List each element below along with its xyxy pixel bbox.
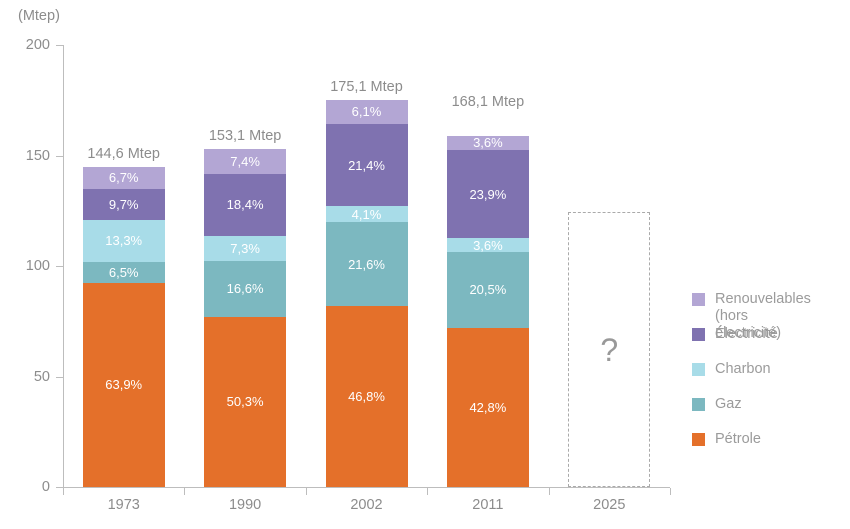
y-axis-tick-label: 150 (2, 148, 50, 164)
bar-segment-2002-renouvelables[interactable]: 6,1% (326, 100, 408, 124)
x-axis-tick (549, 488, 550, 495)
bar-1973[interactable]: 63,9%6,5%13,3%9,7%6,7% (83, 167, 165, 487)
bar-segment-1973-renouvelables[interactable]: 6,7% (83, 167, 165, 188)
x-axis-tick (63, 488, 64, 495)
bar-segment-value-label: 21,4% (348, 159, 385, 172)
bar-segment-value-label: 23,9% (469, 188, 506, 201)
bar-segment-1973-pétrole[interactable]: 63,9% (83, 283, 165, 487)
bar-segment-value-label: 6,5% (109, 266, 139, 279)
bar-segment-value-label: 50,3% (227, 395, 264, 408)
bar-segment-2011-renouvelables[interactable]: 3,6% (447, 136, 529, 149)
bar-segment-value-label: 3,6% (473, 136, 503, 149)
bar-segment-1990-gaz[interactable]: 16,6% (204, 261, 286, 317)
legend-color-swatch (692, 328, 705, 341)
bar-segment-1990-électricité[interactable]: 18,4% (204, 174, 286, 236)
bar-total-label-2002: 175,1 Mtep (330, 79, 403, 95)
bar-segment-value-label: 6,1% (352, 105, 382, 118)
bar-segment-2011-charbon[interactable]: 3,6% (447, 238, 529, 251)
bar-segment-1973-gaz[interactable]: 6,5% (83, 262, 165, 283)
bar-segment-2002-charbon[interactable]: 4,1% (326, 206, 408, 222)
x-axis-tick (184, 488, 185, 495)
bar-1990[interactable]: 50,3%16,6%7,3%18,4%7,4% (204, 149, 286, 487)
bar-segment-2011-gaz[interactable]: 20,5% (447, 252, 529, 328)
bar-total-label-2011: 168,1 Mtep (452, 94, 525, 110)
bar-segment-1990-renouvelables[interactable]: 7,4% (204, 149, 286, 174)
y-axis-tick-label: 200 (2, 37, 50, 53)
x-axis-category-label-2011: 2011 (427, 497, 548, 513)
bar-segment-1990-pétrole[interactable]: 50,3% (204, 317, 286, 487)
bar-segment-value-label: 3,6% (473, 239, 503, 252)
legend-color-swatch (692, 363, 705, 376)
legend-color-swatch (692, 293, 705, 306)
bar-segment-2002-gaz[interactable]: 21,6% (326, 222, 408, 306)
bar-segment-value-label: 21,6% (348, 258, 385, 271)
stacked-bar-chart: (Mtep) 050100150200 19731990200220112025… (0, 0, 850, 529)
legend-color-swatch (692, 433, 705, 446)
bar-2011[interactable]: 42,8%20,5%3,6%23,9%3,6% (447, 115, 529, 487)
y-axis-tick (56, 266, 64, 267)
bar-segment-1990-charbon[interactable]: 7,3% (204, 236, 286, 261)
bar-segment-2011-électricité[interactable]: 23,9% (447, 150, 529, 239)
legend-label: Pétrole (715, 431, 761, 448)
legend-label: Charbon (715, 361, 771, 378)
x-axis-tick (306, 488, 307, 495)
bar-segment-value-label: 46,8% (348, 390, 385, 403)
x-axis-tick (427, 488, 428, 495)
y-axis-tick-label: 50 (2, 369, 50, 385)
legend-label: Gaz (715, 396, 742, 413)
bar-2002[interactable]: 46,8%21,6%4,1%21,4%6,1% (326, 100, 408, 487)
bar-segment-value-label: 4,1% (352, 208, 382, 221)
y-axis-tick (56, 45, 64, 46)
y-axis-tick (56, 377, 64, 378)
legend-item-charbon[interactable]: Charbon (692, 361, 771, 378)
bar-segment-value-label: 6,7% (109, 171, 139, 184)
bar-segment-1973-électricité[interactable]: 9,7% (83, 189, 165, 220)
y-axis-tick-label: 100 (2, 258, 50, 274)
bar-segment-value-label: 42,8% (469, 401, 506, 414)
bar-total-label-1973: 144,6 Mtep (87, 146, 160, 162)
legend-label: Électricité (715, 326, 778, 343)
legend-item-électricité[interactable]: Électricité (692, 326, 778, 343)
legend-item-gaz[interactable]: Gaz (692, 396, 742, 413)
bar-segment-value-label: 16,6% (227, 282, 264, 295)
x-axis-category-label-1990: 1990 (184, 497, 305, 513)
y-axis-tick (56, 156, 64, 157)
bar-placeholder-2025[interactable]: ? (568, 212, 650, 487)
bar-segment-value-label: 18,4% (227, 198, 264, 211)
bar-segment-2011-pétrole[interactable]: 42,8% (447, 328, 529, 487)
bar-segment-value-label: 13,3% (105, 234, 142, 247)
x-axis-category-label-1973: 1973 (63, 497, 184, 513)
bar-segment-2002-électricité[interactable]: 21,4% (326, 124, 408, 207)
x-axis-category-label-2025: 2025 (549, 497, 670, 513)
y-axis-unit-label: (Mtep) (18, 8, 60, 24)
y-axis-tick-label: 0 (2, 479, 50, 495)
x-axis-line (63, 487, 670, 488)
bar-segment-value-label: 7,4% (230, 155, 260, 168)
bar-segment-value-label: 20,5% (469, 283, 506, 296)
bar-segment-2002-pétrole[interactable]: 46,8% (326, 306, 408, 487)
bar-segment-1973-charbon[interactable]: 13,3% (83, 220, 165, 263)
bar-segment-value-label: 63,9% (105, 378, 142, 391)
bar-segment-value-label: 7,3% (230, 242, 260, 255)
bar-segment-value-label: 9,7% (109, 198, 139, 211)
x-axis-category-label-2002: 2002 (306, 497, 427, 513)
legend-item-pétrole[interactable]: Pétrole (692, 431, 761, 448)
question-mark-icon: ? (600, 334, 618, 366)
x-axis-tick (670, 488, 671, 495)
legend-color-swatch (692, 398, 705, 411)
bar-total-label-1990: 153,1 Mtep (209, 128, 282, 144)
